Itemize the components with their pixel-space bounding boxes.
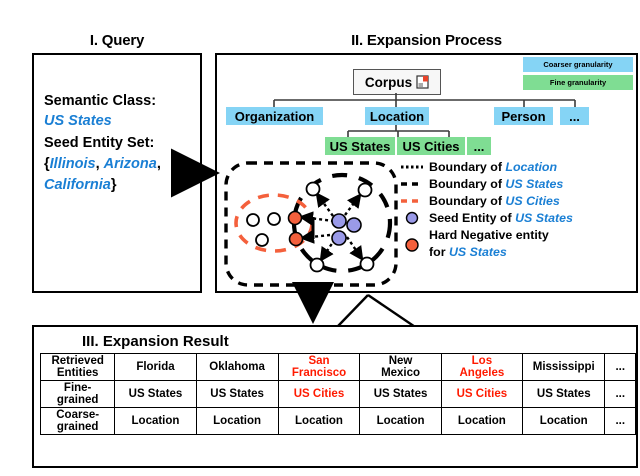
table-cell-entity-4: Los Angeles xyxy=(441,354,522,381)
table-row-coarse-grained: Coarse- grained Location Location Locati… xyxy=(41,408,636,435)
table-cell-fine-5: US States xyxy=(523,381,605,408)
table-cell-fine-0: US States xyxy=(115,381,196,408)
row-header-coarse-grained: Coarse- grained xyxy=(41,408,115,435)
table-cell-fine-4: US Cities xyxy=(441,381,522,408)
expansion-panel: Coarser granularity Fine granularity Cor… xyxy=(215,53,638,293)
table-cell-coarse-2: Location xyxy=(278,408,360,435)
hard-negative-dot-1 xyxy=(289,212,302,225)
table-cell-coarse-1: Location xyxy=(196,408,278,435)
corpus-label: Corpus xyxy=(365,75,412,90)
table-cell-entity-0: Florida xyxy=(115,354,196,381)
legend-prefix-hard-negative-for: for xyxy=(429,245,449,259)
legend-emphasis-hard-negative-for: US States xyxy=(449,245,507,259)
node-location[interactable]: Location xyxy=(365,107,429,125)
table-cell-entity-2: San Francisco xyxy=(278,354,360,381)
table-cell-coarse-0: Location xyxy=(115,408,196,435)
legend-prefix-hard-negative: Hard Negative entity xyxy=(429,228,549,242)
legend-emphasis-us-states: US States xyxy=(505,177,563,191)
table-cell-coarse-6: ... xyxy=(605,408,636,435)
row-header-retrieved-entities: Retrieved Entities xyxy=(41,354,115,381)
table-cell-coarse-5: Location xyxy=(523,408,605,435)
table-cell-fine-2: US Cities xyxy=(278,381,360,408)
corpus-node[interactable]: Corpus xyxy=(353,69,441,95)
seed-dot-2 xyxy=(347,218,361,232)
node-us-cities[interactable]: US Cities xyxy=(397,137,465,155)
table-cell-coarse-4: Location xyxy=(441,408,522,435)
legend-emphasis-us-cities: US Cities xyxy=(505,194,559,208)
legend-row-us-cities: Boundary of US Cities xyxy=(429,194,560,208)
table-row-fine-grained: Fine- grained US States US States US Cit… xyxy=(41,381,636,408)
query-panel-title: I. Query xyxy=(32,32,202,49)
table-cell-fine-1: US States xyxy=(196,381,278,408)
table-cell-fine-3: US States xyxy=(360,381,441,408)
database-icon xyxy=(416,75,429,89)
seed-dot-1 xyxy=(332,214,346,228)
row-header-line1: Retrieved xyxy=(51,355,103,367)
legend-prefix-seed-entity: Seed Entity of xyxy=(429,211,515,225)
legend-prefix-us-states: Boundary of xyxy=(429,177,505,191)
result-panel-title: III. Expansion Result xyxy=(82,333,229,350)
seed-entity-set-value-line1: {Illinois, Arizona, xyxy=(44,156,161,172)
node-coarse-ellipsis[interactable]: ... xyxy=(560,107,589,125)
seed-entity-arizona: Arizona xyxy=(104,156,157,172)
expansion-panel-title: II. Expansion Process xyxy=(215,32,638,49)
row-header-fine-grained: Fine- grained xyxy=(41,381,115,408)
legend-prefix-location: Boundary of xyxy=(429,160,505,174)
result-panel: III. Expansion Result Retrieved Entities… xyxy=(32,325,638,468)
legend-emphasis-location: Location xyxy=(505,160,557,174)
table-cell-entity-1: Oklahoma xyxy=(196,354,278,381)
node-organization[interactable]: Organization xyxy=(226,107,323,125)
row-header-line2: Entities xyxy=(57,367,99,379)
badge-coarser-granularity: Coarser granularity xyxy=(523,57,633,72)
node-person[interactable]: Person xyxy=(494,107,553,125)
seed-dot-3 xyxy=(332,231,346,245)
legend-row-hard-negative: Hard Negative entity xyxy=(429,228,549,242)
seed-entity-set-label: Seed Entity Set: xyxy=(44,135,154,151)
table-row-retrieved-entities: Retrieved Entities Florida Oklahoma San … xyxy=(41,354,636,381)
expansion-result-table: Retrieved Entities Florida Oklahoma San … xyxy=(40,353,636,435)
seed-entity-california: California xyxy=(44,177,111,193)
table-cell-entity-6: ... xyxy=(605,354,636,381)
node-fine-ellipsis[interactable]: ... xyxy=(467,137,491,155)
legend-row-hard-negative-for: for US States xyxy=(429,245,507,259)
hard-negative-dot-2 xyxy=(290,233,303,246)
table-cell-fine-6: ... xyxy=(605,381,636,408)
table-cell-entity-5: Mississippi xyxy=(523,354,605,381)
legend-emphasis-seed-entity: US States xyxy=(515,211,573,225)
query-panel: Semantic Class: US States Seed Entity Se… xyxy=(32,53,202,293)
semantic-class-label: Semantic Class: xyxy=(44,93,156,109)
table-cell-coarse-3: Location xyxy=(360,408,441,435)
seed-entity-set-value-line2: California} xyxy=(44,177,117,193)
legend-row-seed-entity: Seed Entity of US States xyxy=(429,211,573,225)
badge-fine-granularity: Fine granularity xyxy=(523,75,633,90)
legend-prefix-us-cities: Boundary of xyxy=(429,194,505,208)
semantic-class-value: US States xyxy=(44,113,112,129)
legend-row-location: Boundary of Location xyxy=(429,160,557,174)
node-us-states[interactable]: US States xyxy=(325,137,395,155)
table-cell-entity-3: New Mexico xyxy=(360,354,441,381)
seed-entity-illinois: Illinois xyxy=(50,156,96,172)
legend-row-us-states: Boundary of US States xyxy=(429,177,563,191)
